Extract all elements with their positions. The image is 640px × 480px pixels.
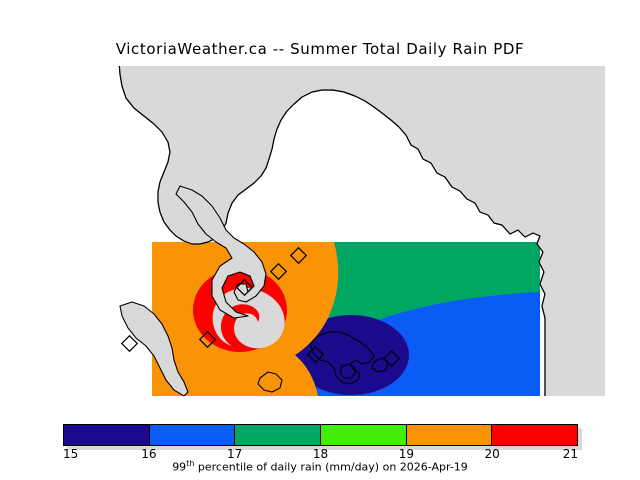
colorbar-caption: 99th percentile of daily rain (mm/day) o…: [0, 459, 640, 474]
weather-map-panel[interactable]: [88, 66, 605, 396]
colorbar-band-16-17[interactable]: [150, 425, 236, 445]
colorbar-bands[interactable]: [63, 424, 578, 446]
colorbar-band-17-18[interactable]: [235, 425, 321, 445]
rain-field: [152, 242, 540, 396]
colorbar-band-19-20[interactable]: [407, 425, 493, 445]
colorbar[interactable]: [63, 424, 578, 446]
colorbar-band-18-19[interactable]: [321, 425, 407, 445]
caption-rest: percentile of daily rain (mm/day) on 202…: [194, 461, 467, 474]
caption-percentile-number: 99: [172, 461, 186, 474]
colorbar-band-20-21[interactable]: [492, 425, 577, 445]
render-layer: [88, 66, 605, 396]
weather-map-svg[interactable]: [88, 66, 605, 396]
page-title: VictoriaWeather.ca -- Summer Total Daily…: [0, 40, 640, 58]
colorbar-band-15-16[interactable]: [64, 425, 150, 445]
